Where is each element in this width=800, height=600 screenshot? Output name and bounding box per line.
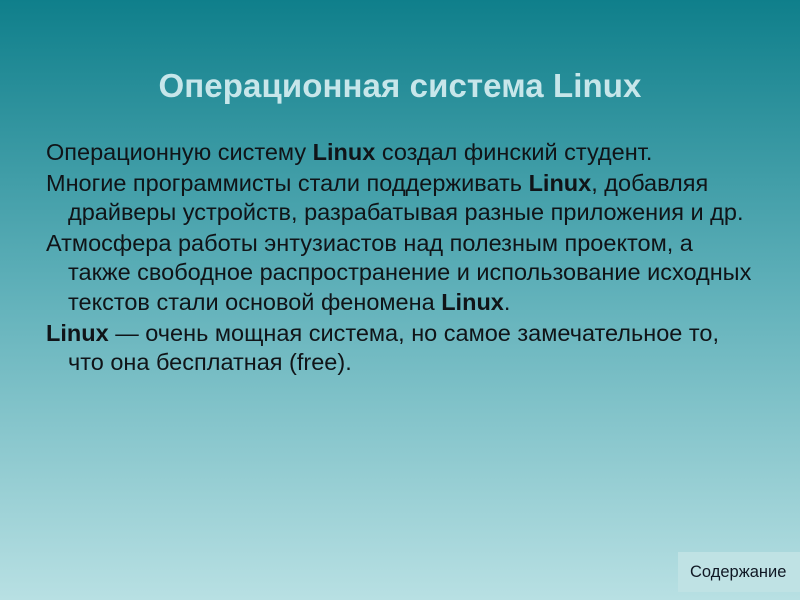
slide-body: Операционную систему Linux создал фински…	[46, 138, 752, 378]
paragraph-text: Атмосфера работы энтузиастов над полезны…	[46, 230, 751, 315]
body-paragraph-4: Linux — очень мощная система, но самое з…	[46, 319, 752, 378]
paragraph-text: Операционную систему Linux создал фински…	[46, 139, 652, 165]
slide: Операционная система Linux Операционную …	[0, 0, 800, 600]
page-title-bold: Linux	[553, 67, 642, 104]
contents-link[interactable]: Содержание	[690, 562, 786, 582]
paragraph-text: Многие программисты стали поддерживать L…	[46, 170, 743, 226]
paragraph-text: Linux — очень мощная система, но самое з…	[46, 320, 719, 376]
body-paragraph-3: Атмосфера работы энтузиастов над полезны…	[46, 229, 752, 318]
body-paragraph-2: Многие программисты стали поддерживать L…	[46, 169, 752, 228]
page-title-prefix: Операционная система	[158, 67, 553, 104]
page-title: Операционная система Linux	[0, 66, 800, 106]
body-paragraph-1: Операционную систему Linux создал фински…	[46, 138, 752, 168]
